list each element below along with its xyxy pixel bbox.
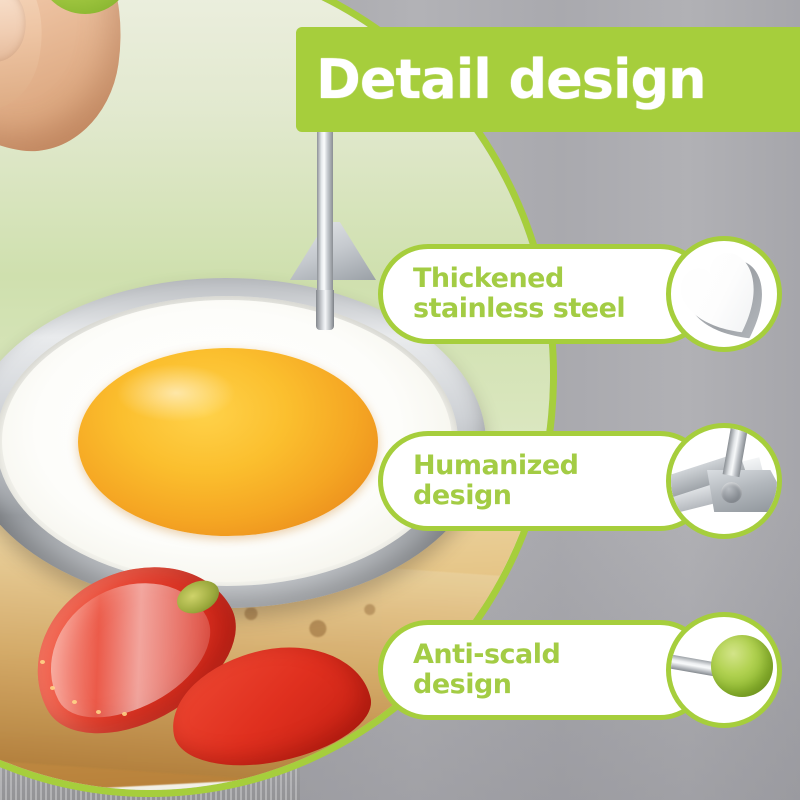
title-banner: Detail design: [296, 27, 800, 132]
ball-handle-graphic: [671, 617, 777, 723]
green-ball-handle-icon[interactable]: [666, 612, 782, 728]
bracket-rivet: [721, 482, 742, 503]
strawberry-seed: [122, 712, 127, 716]
handle-rod-tip: [316, 290, 334, 330]
feature-pill[interactable]: Humanized design: [378, 431, 710, 531]
ball-handle-knob: [711, 635, 773, 697]
feature-pill[interactable]: Thickened stainless steel: [378, 244, 710, 344]
handle-bracket: [290, 222, 376, 280]
strawberry-seed: [72, 700, 77, 704]
feature-thickened-stainless-steel[interactable]: Thickened stainless steel: [378, 236, 782, 352]
heart-shaped-steel-mould-icon[interactable]: [666, 236, 782, 352]
feature-label-line1: Anti-scald: [413, 640, 705, 670]
heart-mould-top: [666, 236, 782, 352]
egg-yolk-highlight: [116, 364, 236, 422]
infographic-canvas: Detail design Thickened stainless steel …: [0, 0, 800, 800]
bracket-graphic: [671, 428, 777, 534]
heart-mould-graphic: [671, 241, 777, 347]
feature-label-line2: stainless steel: [413, 294, 705, 324]
handle-bracket-rivet-icon[interactable]: [666, 423, 782, 539]
strawberry-seed: [96, 710, 101, 714]
feature-label-line1: Humanized: [413, 451, 705, 481]
page-title: Detail design: [316, 48, 706, 111]
bracket-plate: [707, 470, 779, 512]
feature-anti-scald-design[interactable]: Anti-scald design: [378, 612, 782, 728]
feature-pill[interactable]: Anti-scald design: [378, 620, 710, 720]
feature-label-line2: design: [413, 670, 705, 700]
strawberry-seed: [50, 686, 55, 690]
feature-label-line1: Thickened: [413, 264, 705, 294]
strawberry-seed: [40, 660, 45, 664]
feature-humanized-design[interactable]: Humanized design: [378, 423, 782, 539]
egg-yolk: [78, 348, 378, 536]
feature-label-line2: design: [413, 481, 705, 511]
